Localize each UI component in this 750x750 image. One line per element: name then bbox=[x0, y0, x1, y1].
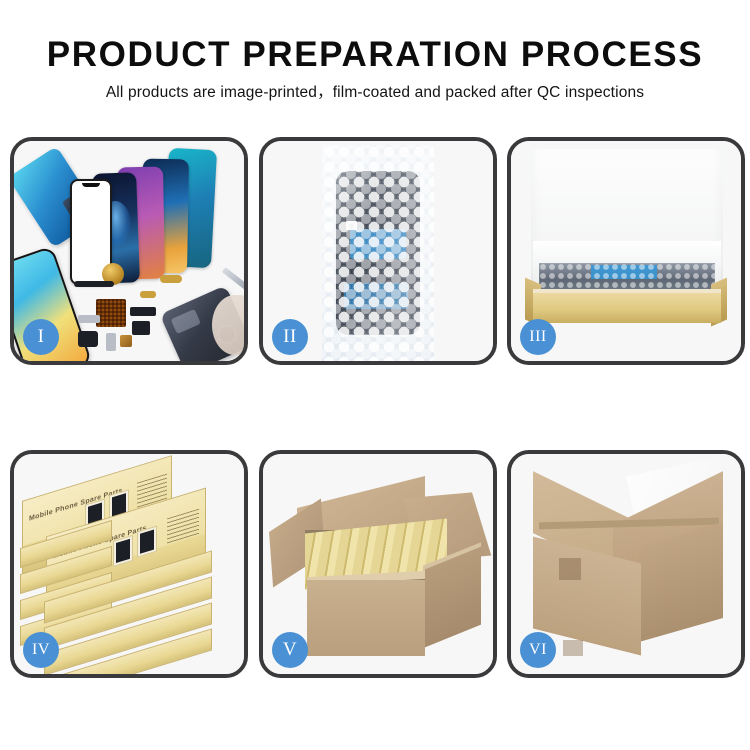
process-step-panel-1: I bbox=[10, 137, 248, 365]
process-step-panel-6: VI bbox=[507, 450, 745, 678]
process-step-panel-5: V bbox=[259, 450, 497, 678]
step-badge-4: IV bbox=[23, 632, 59, 668]
vibrator-part-icon bbox=[132, 321, 150, 335]
process-step-panel-3: III bbox=[507, 137, 745, 365]
phone-notch-icon bbox=[82, 183, 100, 187]
page-title: PRODUCT PREPARATION PROCESS bbox=[0, 34, 750, 76]
step-badge-5: V bbox=[272, 632, 308, 668]
connector-chip-part-icon bbox=[96, 299, 126, 327]
step-badge-6: VI bbox=[520, 632, 556, 668]
speaker-part-icon bbox=[78, 331, 98, 347]
process-step-panel-2: II bbox=[259, 137, 497, 365]
bubble-wrap-bag bbox=[322, 145, 434, 363]
camera-module-part-icon bbox=[130, 307, 156, 316]
flex-cable-part-icon bbox=[160, 275, 182, 283]
earpiece-part-icon bbox=[74, 281, 114, 287]
carton-handle-tab-upper bbox=[559, 558, 581, 580]
box-front-wall bbox=[533, 293, 721, 323]
header: PRODUCT PREPARATION PROCESS All products… bbox=[0, 34, 750, 103]
process-step-panel-4: Mobile Phone Spare Parts Mobile Phone Sp… bbox=[10, 450, 248, 678]
flex-cable-part-icon-2 bbox=[140, 291, 156, 298]
bracket-part-icon bbox=[78, 315, 100, 323]
retail-box-screen-image-4 bbox=[137, 526, 157, 558]
spare-parts-group bbox=[74, 261, 248, 365]
screw-set-part-icon bbox=[120, 335, 132, 347]
carton-front-face bbox=[307, 580, 425, 656]
process-step-grid: I II bbox=[10, 137, 745, 680]
step-badge-1: I bbox=[23, 319, 59, 355]
plastic-sheen-overlay bbox=[322, 145, 434, 363]
product-preparation-infographic: PRODUCT PREPARATION PROCESS All products… bbox=[0, 0, 750, 750]
carton-handle-tab-lower bbox=[563, 640, 583, 656]
retail-box-screen-image-3 bbox=[113, 535, 133, 567]
sim-tray-part-icon bbox=[106, 333, 116, 351]
page-subtitle: All products are image-printed，film-coat… bbox=[0, 83, 750, 103]
step-badge-2: II bbox=[272, 319, 308, 355]
step-badge-3: III bbox=[520, 319, 556, 355]
